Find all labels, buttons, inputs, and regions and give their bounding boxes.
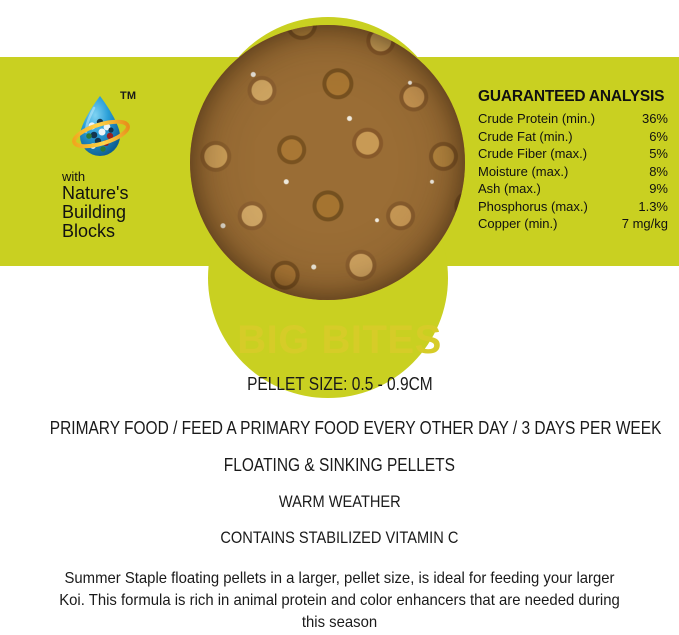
water-droplet-molecule-icon: [70, 92, 134, 166]
tagline-line-1: Nature's: [62, 184, 182, 203]
tagline-with: with: [62, 170, 182, 184]
tagline-line-2: Building: [62, 203, 182, 222]
analysis-value: 9%: [643, 180, 668, 198]
pellet-photo: [190, 25, 465, 300]
guaranteed-analysis-panel: GUARANTEED ANALYSIS Crude Protein (min.)…: [478, 88, 668, 233]
brand-logo: TM with Nature's Building Blocks: [62, 92, 182, 241]
analysis-row: Moisture (max.) 8%: [478, 163, 668, 181]
product-label: TM with Nature's Building Blocks GUARANT…: [0, 0, 679, 635]
product-description: Summer Staple floating pellets in a larg…: [30, 568, 649, 634]
analysis-value: 6%: [643, 128, 668, 146]
pellet-size-text: PELLET SIZE: 0.5 - 0.9CM: [247, 374, 433, 395]
analysis-nutrient: Ash (max.): [478, 180, 541, 198]
analysis-row: Crude Fat (min.) 6%: [478, 128, 668, 146]
analysis-row: Ash (max.) 9%: [478, 180, 668, 198]
analysis-row: Crude Protein (min.) 36%: [478, 110, 668, 128]
feeding-instruction-line: PRIMARY FOOD / FEED A PRIMARY FOOD EVERY…: [0, 418, 679, 439]
trademark-symbol: TM: [120, 90, 136, 102]
analysis-nutrient: Crude Fat (min.): [478, 128, 573, 146]
droplet-logo-graphic: TM: [70, 92, 134, 166]
analysis-row: Crude Fiber (max.) 5%: [478, 145, 668, 163]
product-title: BIG BITES: [0, 318, 679, 363]
vitamin-text: CONTAINS STABILIZED VITAMIN C: [220, 528, 458, 548]
analysis-value: 8%: [643, 163, 668, 181]
season-line: WARM WEATHER: [0, 492, 679, 512]
analysis-nutrient: Phosphorus (max.): [478, 198, 588, 216]
analysis-row: Phosphorus (max.) 1.3%: [478, 198, 668, 216]
pellet-type-text: FLOATING & SINKING PELLETS: [224, 455, 455, 476]
analysis-nutrient: Copper (min.): [478, 215, 557, 233]
product-description-text: Summer Staple floating pellets in a larg…: [52, 568, 628, 634]
analysis-row: Copper (min.) 7 mg/kg: [478, 215, 668, 233]
analysis-nutrient: Moisture (max.): [478, 163, 568, 181]
analysis-heading: GUARANTEED ANALYSIS: [478, 88, 668, 106]
pellet-photo-vignette: [190, 25, 465, 300]
analysis-value: 1.3%: [632, 198, 668, 216]
pellet-type-line: FLOATING & SINKING PELLETS: [0, 455, 679, 476]
brand-tagline: with Nature's Building Blocks: [62, 170, 182, 241]
analysis-nutrient: Crude Fiber (max.): [478, 145, 587, 163]
analysis-value: 7 mg/kg: [616, 215, 668, 233]
feeding-instruction-text: PRIMARY FOOD / FEED A PRIMARY FOOD EVERY…: [50, 418, 662, 439]
analysis-value: 5%: [643, 145, 668, 163]
vitamin-line: CONTAINS STABILIZED VITAMIN C: [0, 528, 679, 548]
analysis-nutrient: Crude Protein (min.): [478, 110, 595, 128]
season-text: WARM WEATHER: [279, 492, 401, 512]
tagline-line-3: Blocks: [62, 222, 182, 241]
pellet-size-line: PELLET SIZE: 0.5 - 0.9CM: [0, 374, 679, 395]
analysis-value: 36%: [636, 110, 668, 128]
